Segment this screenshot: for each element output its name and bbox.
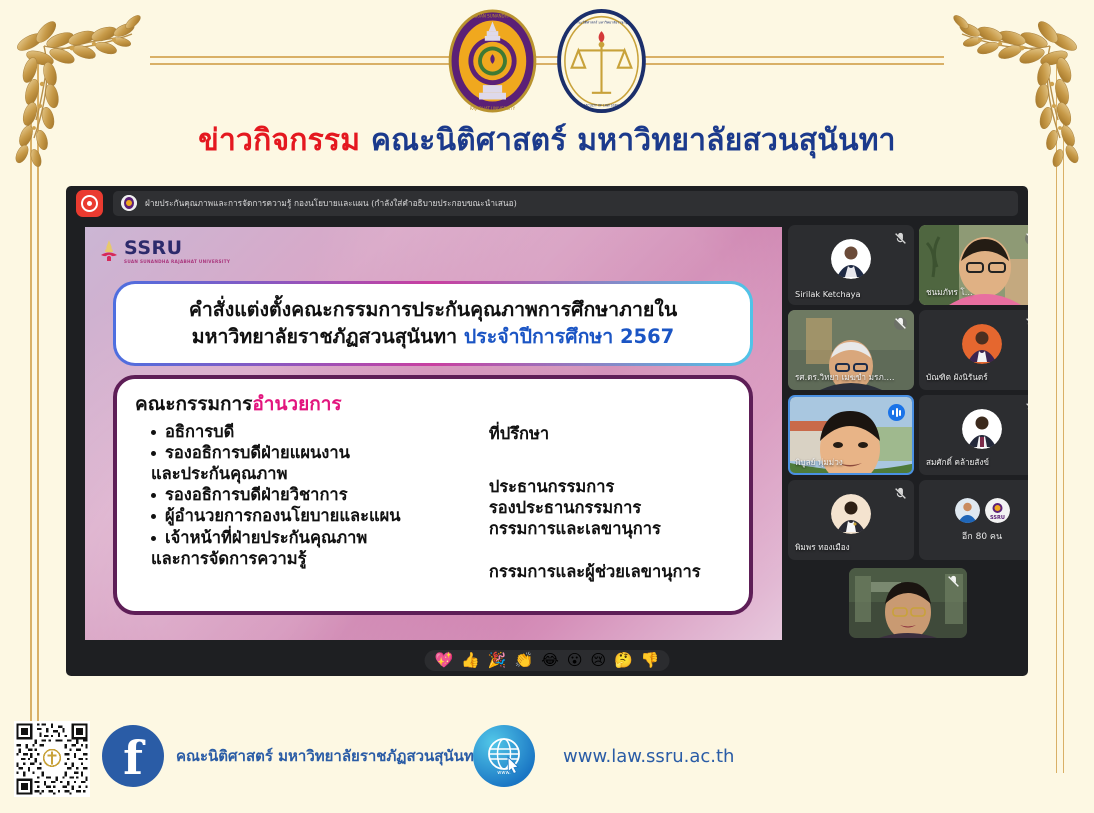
participant-name: พิมพร ทองเมือง xyxy=(795,541,896,554)
meeting-stage: SSRU SUAN SUNANDHA RAJABHAT UNIVERSITY ค… xyxy=(66,220,1028,676)
globe-icon[interactable]: www. xyxy=(473,725,535,787)
qr-code[interactable] xyxy=(14,721,90,797)
presenter-status-pill[interactable]: ฝ่ายประกันคุณภาพและการจัดการความรู้ กองน… xyxy=(113,191,1018,216)
committee-roles-column: ที่ปรึกษา ประธานกรรมการ รองประธานกรรมการ… xyxy=(489,421,743,583)
more-participants-label: อีก 80 คน xyxy=(962,529,1002,543)
member-name: รองอธิการบดีฝ่ายวิชาการ xyxy=(165,485,348,504)
reaction-thumbs-down-icon[interactable]: 👎 xyxy=(641,653,660,668)
slide-title-academic-year: ประจำปีการศึกษา 2567 xyxy=(464,325,674,348)
avatar xyxy=(962,409,1002,449)
facebook-link[interactable]: f คณะนิติศาสตร์ มหาวิทยาลัยราชภัฏสวนสุนั… xyxy=(102,725,482,787)
member-name-cont: และการจัดการความรู้ xyxy=(151,548,489,569)
ssru-logo: SSRU SUAN SUNANDHA RAJABHAT UNIVERSITY xyxy=(99,239,230,265)
svg-text:RAJABHAT UNIVERSITY: RAJABHAT UNIVERSITY xyxy=(470,106,516,111)
participant-tile[interactable]: ภาวิดา คำขาย xyxy=(849,568,967,638)
role-label: รองประธานกรรมการ xyxy=(489,497,743,518)
reaction-heart-icon[interactable]: 💖 xyxy=(435,653,454,668)
website-link[interactable]: www. www.law.ssru.ac.th xyxy=(473,725,734,787)
participant-tile[interactable]: Sirilak Ketchaya xyxy=(788,225,914,305)
reaction-thinking-icon[interactable]: 🤔 xyxy=(614,653,633,668)
facebook-page-name: คณะนิติศาสตร์ มหาวิทยาลัยราชภัฏสวนสุนันท… xyxy=(176,744,482,768)
mic-off-icon xyxy=(1025,402,1028,415)
meeting-top-bar: ฝ่ายประกันคุณภาพและการจัดการความรู้ กองน… xyxy=(66,186,1028,220)
video-conference-window: ฝ่ายประกันคุณภาพและการจัดการความรู้ กองน… xyxy=(66,186,1028,676)
mic-off-icon xyxy=(894,232,907,245)
member-name: รองอธิการบดีฝ่ายแผนงาน xyxy=(165,443,350,462)
participant-name: บัณฑิต ผังนิรันดร์ xyxy=(926,371,1027,384)
mic-off-icon xyxy=(894,487,907,500)
committee-member-list: อธิการบดี รองอธิการบดีฝ่ายแผนงาน และประก… xyxy=(135,421,489,569)
slide-title-card: คำสั่งแต่งตั้งคณะกรรมการประกันคุณภาพการศ… xyxy=(113,281,753,366)
reaction-thumbs-up-icon[interactable]: 👍 xyxy=(461,653,480,668)
website-url: www.law.ssru.ac.th xyxy=(563,746,734,767)
svg-text:SSRU: SSRU xyxy=(990,515,1005,521)
participant-name: สมศักดิ์ คล้ายสังข์ xyxy=(926,456,1027,469)
slide-title-line-1: คำสั่งแต่งตั้งคณะกรรมการประกันคุณภาพการศ… xyxy=(132,296,734,323)
page-title-highlight: ข่าวกิจกรรม xyxy=(198,123,360,158)
avatar xyxy=(831,494,871,534)
section-heading-main: คณะกรรมการ xyxy=(135,393,252,415)
reaction-party-icon[interactable]: 🎉 xyxy=(488,653,507,668)
reaction-clap-icon[interactable]: 👏 xyxy=(515,653,534,668)
participant-name: Sirilak Ketchaya xyxy=(795,289,896,299)
reaction-surprised-icon[interactable]: 😮 xyxy=(567,653,583,668)
facebook-icon[interactable]: f xyxy=(102,725,164,787)
member-name-cont: และประกันคุณภาพ xyxy=(151,463,489,484)
speaking-indicator-icon xyxy=(888,404,905,421)
list-item: อธิการบดี xyxy=(151,421,489,442)
list-item: เจ้าหน้าที่ฝ่ายประกันคุณภาพ และการจัดการ… xyxy=(151,527,489,569)
page-title: ข่าวกิจกรรม คณะนิติศาสตร์ มหาวิทยาลัยสวน… xyxy=(0,124,1094,159)
svg-text:คณะนิติศาสตร์ มหาวิทยาลัยราชภั: คณะนิติศาสตร์ มหาวิทยาลัยราชภัฏ xyxy=(575,20,629,24)
svg-text:FACULTY OF LAW SSRU: FACULTY OF LAW SSRU xyxy=(584,103,619,107)
presenter-status-text: ฝ่ายประกันคุณภาพและการจัดการความรู้ กองน… xyxy=(145,196,517,210)
slide-section-heading: คณะกรรมการอำนวยการ xyxy=(135,389,743,419)
participant-tile[interactable]: รศ.ดร.วิทยา เมฆขำ มรภ. ... xyxy=(788,310,914,390)
avatar: SSRU xyxy=(984,497,1011,524)
avatar xyxy=(831,239,871,279)
member-name: เจ้าหน้าที่ฝ่ายประกันคุณภาพ xyxy=(165,528,367,547)
role-label: ที่ปรึกษา xyxy=(489,423,743,444)
presenter-avatar xyxy=(121,195,137,211)
faculty-of-law-seal-icon: คณะนิติศาสตร์ มหาวิทยาลัยราชภัฏ FACULTY … xyxy=(553,8,650,114)
participant-name: พิบูลย์ พุ่มม่วง xyxy=(795,456,894,469)
participant-name: ชนมภัทร โ... xyxy=(926,286,1027,299)
more-participants-tile[interactable]: SSRU อีก 80 คน xyxy=(919,480,1028,560)
reaction-sad-icon[interactable]: 😢 xyxy=(590,653,606,668)
emoji-reaction-bar[interactable]: 💖 👍 🎉 👏 😂 😮 😢 🤔 👎 xyxy=(425,650,670,671)
participant-tile[interactable]: พิมพร ทองเมือง xyxy=(788,480,914,560)
slide-title-line-2: มหาวิทยาลัยราชภัฏสวนสุนันทา ประจำปีการศึ… xyxy=(132,323,734,350)
participant-tile[interactable]: ชนมภัทร โ... xyxy=(919,225,1028,305)
mic-off-icon xyxy=(1025,317,1028,330)
participant-tile-grid: Sirilak Ketchaya xyxy=(788,225,1028,676)
slide-title-line-2-main: มหาวิทยาลัยราชภัฏสวนสุนันทา xyxy=(192,325,464,348)
role-label: กรรมการและผู้ช่วยเลขานุการ xyxy=(489,561,743,582)
logo-row: SUAN SUNANDHA RAJABHAT UNIVERSITY คณะนิต… xyxy=(0,8,1094,114)
ssru-emblem-icon xyxy=(99,239,119,265)
recording-button[interactable] xyxy=(76,190,103,217)
record-icon xyxy=(81,195,98,212)
list-item: รองอธิการบดีฝ่ายวิชาการ xyxy=(151,484,489,505)
mic-off-icon xyxy=(894,317,907,330)
list-item: ผู้อำนวยการกองนโยบายและแผน xyxy=(151,505,489,526)
shared-screen-slide[interactable]: SSRU SUAN SUNANDHA RAJABHAT UNIVERSITY ค… xyxy=(85,227,782,640)
ssru-wordmark: SSRU xyxy=(124,239,230,258)
list-item: รองอธิการบดีฝ่ายแผนงาน และประกันคุณภาพ xyxy=(151,442,489,484)
mic-off-icon xyxy=(1025,232,1028,245)
participant-tile-active-speaker[interactable]: พิบูลย์ พุ่มม่วง xyxy=(788,395,914,475)
role-label: ประธานกรรมการ xyxy=(489,476,743,497)
mic-off-icon xyxy=(947,575,960,588)
svg-text:SUAN SUNANDHA: SUAN SUNANDHA xyxy=(475,14,511,19)
member-name: อธิการบดี xyxy=(165,422,234,441)
section-heading-accent: อำนวยการ xyxy=(252,393,341,415)
page-footer: f คณะนิติศาสตร์ มหาวิทยาลัยราชภัฏสวนสุนั… xyxy=(0,719,1094,799)
member-name: ผู้อำนวยการกองนโยบายและแผน xyxy=(165,506,401,525)
page-title-main: คณะนิติศาสตร์ มหาวิทยาลัยสวนสุนันทา xyxy=(371,123,896,158)
role-label: กรรมการและเลขานุการ xyxy=(489,518,743,539)
participant-tile[interactable]: บัณฑิต ผังนิรันดร์ xyxy=(919,310,1028,390)
participant-name: รศ.ดร.วิทยา เมฆขำ มรภ. ... xyxy=(795,371,896,384)
avatar xyxy=(962,324,1002,364)
reaction-laugh-icon[interactable]: 😂 xyxy=(541,653,559,668)
more-participant-avatars: SSRU xyxy=(954,497,1011,524)
committee-members-column: อธิการบดี รองอธิการบดีฝ่ายแผนงาน และประก… xyxy=(135,421,489,583)
participant-tile[interactable]: สมศักดิ์ คล้ายสังข์ xyxy=(919,395,1028,475)
avatar xyxy=(954,497,981,524)
slide-body-card: คณะกรรมการอำนวยการ อธิการบดี รองอธิการบด… xyxy=(113,375,753,615)
ssru-subtitle: SUAN SUNANDHA RAJABHAT UNIVERSITY xyxy=(124,260,230,264)
ssru-university-seal-icon: SUAN SUNANDHA RAJABHAT UNIVERSITY xyxy=(444,8,541,114)
